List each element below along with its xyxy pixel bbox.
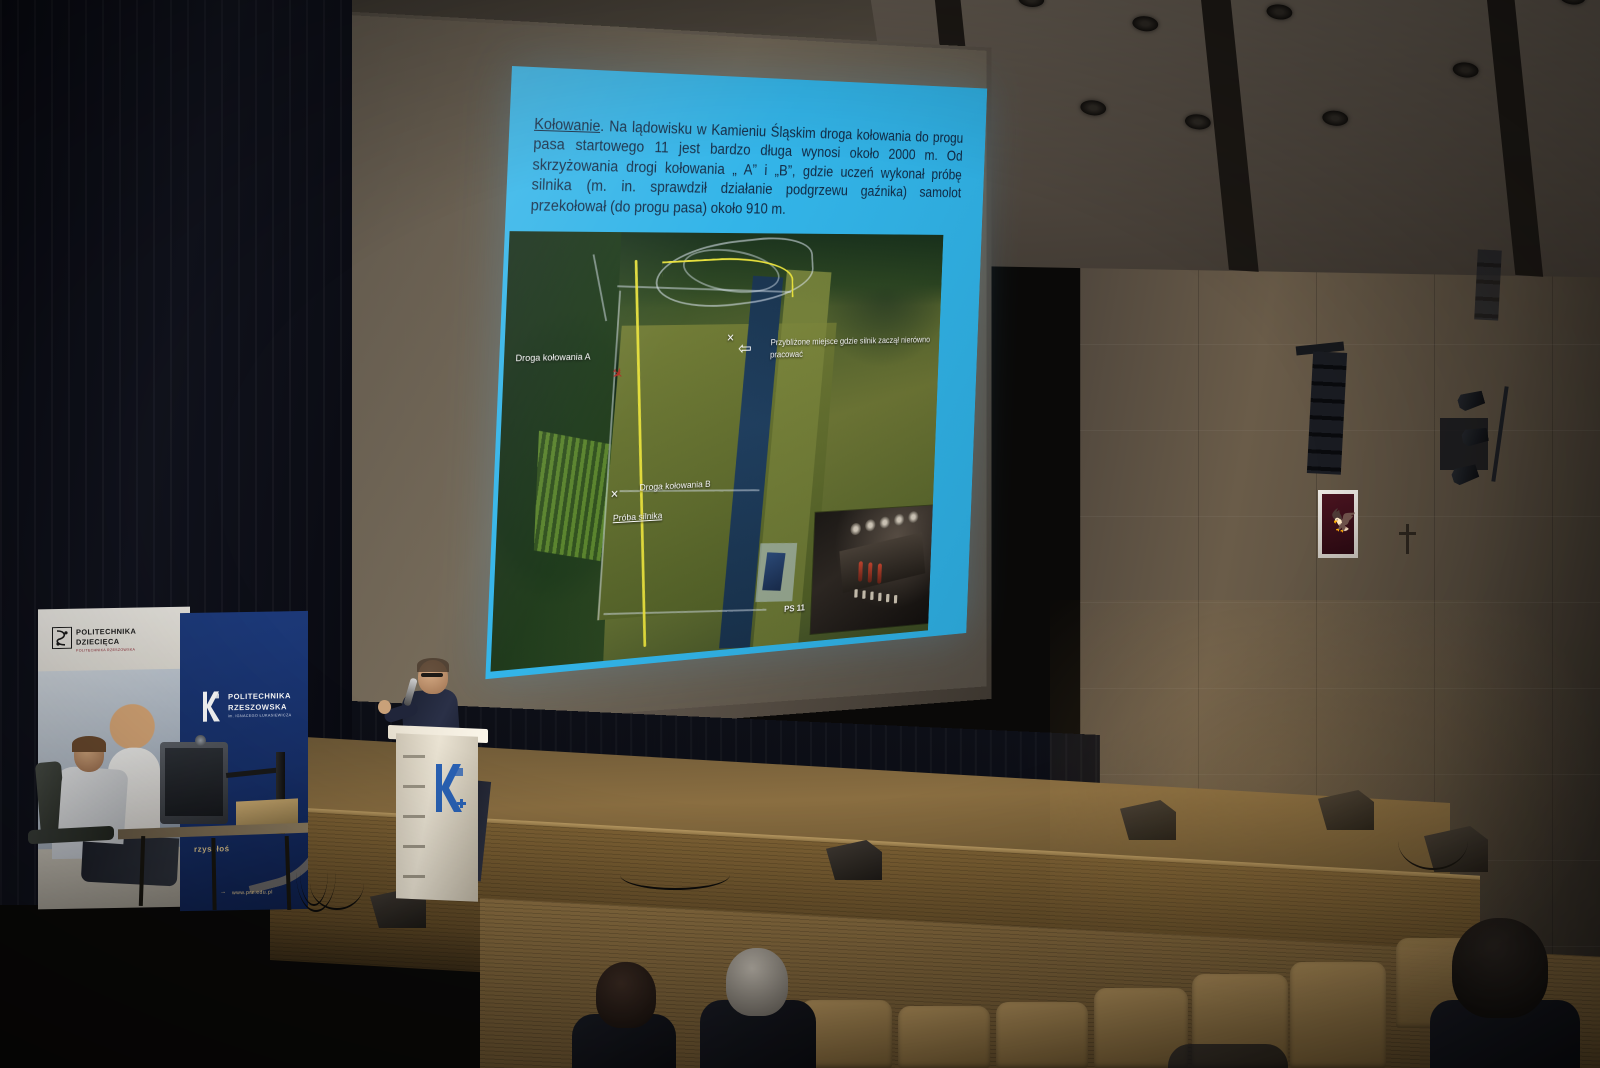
ceiling-downlight	[1321, 110, 1349, 126]
auditorium-scene: Kołowanie. Na lądowisku w Kamieniu Śląsk…	[0, 0, 1600, 1068]
instrument-panel	[839, 532, 925, 593]
ceiling-downlight	[1184, 114, 1212, 130]
gauge	[908, 511, 919, 523]
line-array-speaker	[1307, 351, 1347, 475]
prz-logo-icon	[200, 690, 222, 722]
audience-member-head	[726, 948, 788, 1016]
control-monitor-screen[interactable]	[165, 748, 223, 816]
podium-shelf	[403, 755, 425, 887]
pd-logo-icon	[52, 627, 72, 649]
callout-text: Przybliżone miejsce gdzie silnik zaczął …	[770, 334, 939, 362]
switch	[886, 594, 890, 603]
gauge	[865, 519, 876, 532]
bw-line2: DZIECIĘCA	[76, 637, 119, 647]
bb-line2: RZESZOWSKA	[228, 702, 287, 712]
ceiling-downlight	[1131, 16, 1159, 32]
glasses-icon	[421, 673, 443, 677]
arrow-icon: →	[220, 889, 226, 895]
technician-hair	[72, 736, 106, 752]
stage-cable	[620, 860, 730, 890]
audience-member-shoulders	[1168, 1044, 1288, 1068]
polish-eagle-icon: 🦅	[1330, 504, 1346, 538]
throttle-lever	[858, 561, 863, 582]
switch	[862, 590, 866, 599]
ceiling-downlight	[1079, 100, 1107, 116]
label-taxiway-a: Droga kołowania A	[515, 352, 590, 365]
switch	[878, 593, 882, 602]
carb-heat-lever	[877, 563, 882, 583]
slide-heading: Kołowanie	[534, 116, 601, 135]
gauge	[850, 523, 861, 536]
switch	[894, 595, 897, 603]
wall-acoustic-panel	[1440, 418, 1488, 470]
mixture-lever	[868, 562, 873, 583]
gauge	[894, 514, 905, 527]
prz-r-logo-icon	[432, 762, 468, 814]
cable	[310, 856, 364, 910]
auditorium-seat[interactable]	[1290, 962, 1386, 1068]
label-runway-threshold: PS 11	[784, 602, 805, 614]
presenter-hand	[378, 700, 391, 714]
bb-line3: im. IGNACEGO ŁUKASIEWICZA	[228, 713, 291, 718]
webcam-icon	[195, 735, 206, 746]
auditorium-seat[interactable]	[996, 1002, 1088, 1068]
crucifix-icon	[1406, 524, 1409, 554]
aerial-photo: ✈ ✕ ✕ ⇦ Przybliżone miejsce gdzie silnik…	[491, 231, 944, 672]
slide-text-block: Kołowanie. Na lądowisku w Kamieniu Śląsk…	[530, 115, 963, 222]
bb-url: www.prz.edu.pl	[232, 889, 273, 896]
line-array-speaker	[1474, 249, 1502, 320]
ceiling-beam	[1481, 0, 1543, 277]
x-mark-engine-fault: ✕	[726, 332, 734, 344]
gauge	[879, 516, 890, 529]
switch	[870, 591, 874, 600]
stage-cable	[1398, 812, 1468, 870]
audience-member-head	[1452, 918, 1548, 1018]
audience-member-head	[596, 962, 656, 1028]
ceiling-beam	[1194, 0, 1258, 272]
bw-line1: POLITECHNIKA	[76, 627, 136, 637]
presentation-slide: Kołowanie. Na lądowisku w Kamieniu Śląsk…	[485, 66, 987, 679]
switch	[854, 589, 858, 598]
x-mark-engine-test: ✕	[610, 488, 619, 501]
presenter-hair	[417, 658, 449, 672]
bb-line1: POLITECHNIKA	[228, 691, 291, 701]
bw-line3: POLITECHNIKA RZESZOWSKA	[76, 648, 135, 653]
ceiling-downlight	[1452, 62, 1480, 78]
crucifix-crossbar-icon	[1399, 532, 1416, 535]
ceiling-downlight	[1265, 4, 1293, 20]
ceiling-downlight	[1017, 0, 1045, 7]
auditorium-seat[interactable]	[898, 1006, 990, 1068]
cockpit-inset-photo	[810, 505, 933, 634]
ceiling-downlight	[1559, 0, 1587, 5]
